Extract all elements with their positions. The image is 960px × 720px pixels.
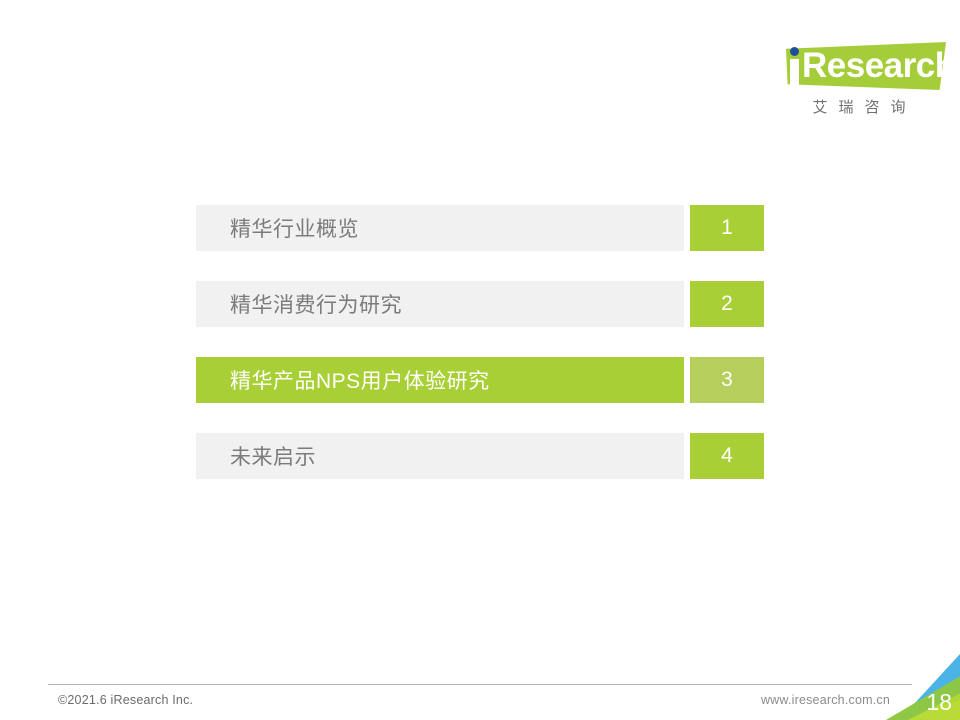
logo-i-stem-icon [790,59,799,87]
agenda-label-4: 未来启示 [196,433,684,479]
logo-wordmark: Research [802,46,956,86]
agenda-number-2: 2 [690,281,764,327]
agenda-row-3[interactable]: 精华产品NPS用户体验研究 3 [196,357,764,403]
footer-copyright: ©2021.6 iResearch Inc. [58,693,193,707]
logo-subtitle: 艾瑞咨询 [776,96,942,117]
agenda-list: 精华行业概览 1 精华消费行为研究 2 精华产品NPS用户体验研究 3 未来启示… [196,205,764,479]
agenda-label-1: 精华行业概览 [196,205,684,251]
agenda-number-4: 4 [690,433,764,479]
agenda-label-2: 精华消费行为研究 [196,281,684,327]
footer-divider [48,684,912,685]
agenda-row-1[interactable]: 精华行业概览 1 [196,205,764,251]
agenda-number-3: 3 [690,357,764,403]
footer-website: www.iresearch.com.cn [761,693,890,707]
page-number: 18 [926,691,952,714]
logo-i-dot-icon [790,47,799,56]
agenda-row-4[interactable]: 未来启示 4 [196,433,764,479]
agenda-row-2[interactable]: 精华消费行为研究 2 [196,281,764,327]
iresearch-logo: Research 艾瑞咨询 [766,38,950,124]
logo-mark: Research [772,38,948,94]
agenda-label-3: 精华产品NPS用户体验研究 [196,357,684,403]
agenda-number-1: 1 [690,205,764,251]
